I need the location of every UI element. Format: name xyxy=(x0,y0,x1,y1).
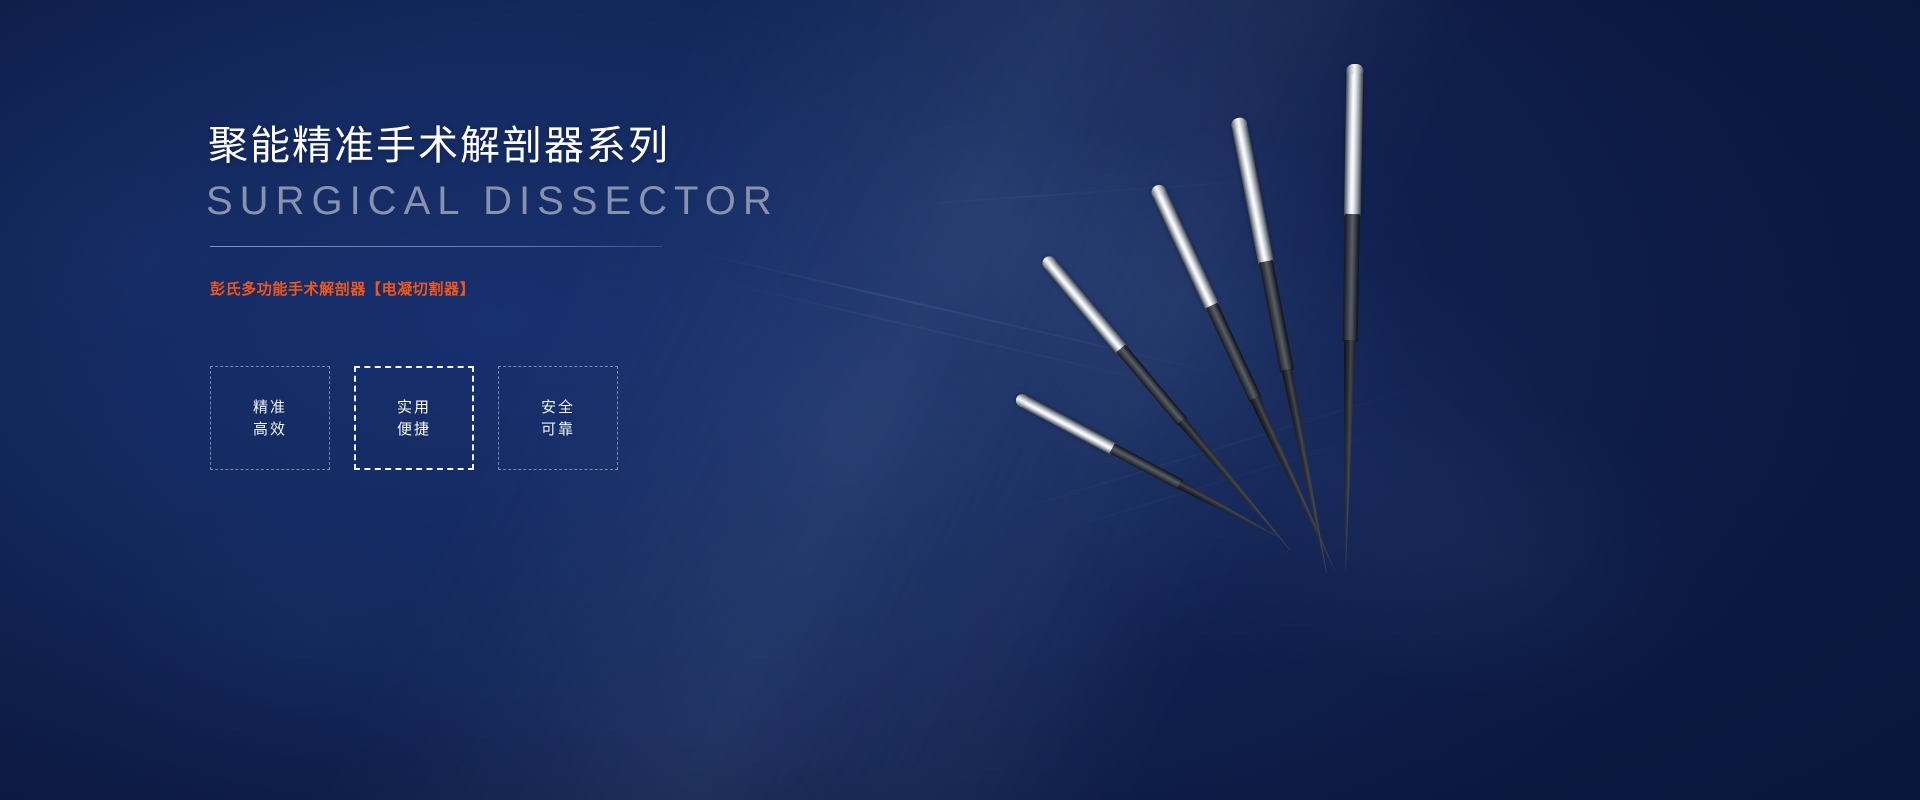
feature-box-1-line-2: 高效 xyxy=(253,422,287,437)
feature-box-3-line-2: 可靠 xyxy=(541,422,575,437)
divider-rule xyxy=(210,246,662,247)
hero-banner: 聚能精准手术解剖器系列 SURGICAL DISSECTOR 彭氏多功能手术解剖… xyxy=(0,0,1920,800)
feature-box-2[interactable]: 实用便捷 xyxy=(354,366,474,470)
feature-box-1-line-1: 精准 xyxy=(253,400,287,415)
feature-box-3-line-1: 安全 xyxy=(541,400,575,415)
feature-box-3[interactable]: 安全可靠 xyxy=(498,366,618,470)
feature-box-1[interactable]: 精准高效 xyxy=(210,366,330,470)
page-subtitle: SURGICAL DISSECTOR xyxy=(206,177,779,225)
banner-content: 聚能精准手术解剖器系列 SURGICAL DISSECTOR 彭氏多功能手术解剖… xyxy=(208,0,908,800)
feature-box-group: 精准高效实用便捷安全可靠 xyxy=(210,366,618,470)
feature-box-2-line-1: 实用 xyxy=(397,400,431,415)
feature-box-2-line-2: 便捷 xyxy=(397,422,431,437)
page-title: 聚能精准手术解剖器系列 xyxy=(208,121,670,171)
product-tagline: 彭氏多功能手术解剖器【电凝切割器】 xyxy=(210,278,475,299)
